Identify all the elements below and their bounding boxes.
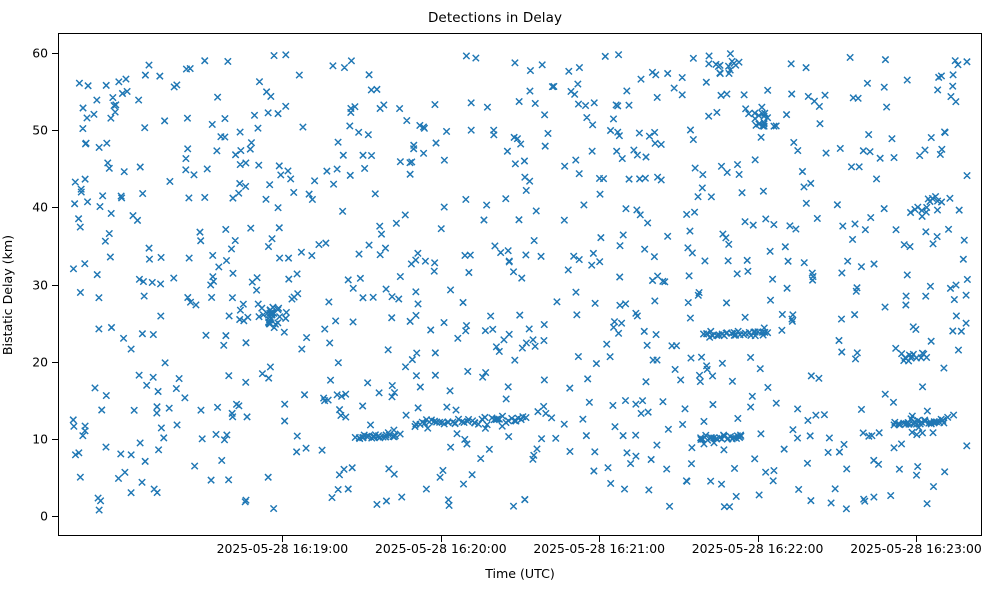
x-tick-label: 2025-05-28 16:20:00: [375, 541, 507, 556]
scatter-points-layer: [59, 34, 981, 535]
y-tick-label: 0: [40, 508, 48, 523]
y-tick-label: 10: [32, 431, 48, 446]
y-tick-label: 50: [32, 123, 48, 138]
scatter-marker-group: [70, 50, 971, 513]
x-axis-label: Time (UTC): [58, 566, 982, 581]
x-tick-label: 2025-05-28 16:19:00: [217, 541, 349, 556]
x-tick-label: 2025-05-28 16:21:00: [533, 541, 665, 556]
chart-title: Detections in Delay: [0, 10, 990, 26]
y-tick-label: 30: [32, 277, 48, 292]
plot-area: [58, 33, 982, 536]
y-axis-tick-labels: 0102030405060: [0, 0, 48, 590]
x-tick-label: 2025-05-28 16:23:00: [850, 541, 982, 556]
figure-canvas: Detections in Delay Bistatic Delay (km) …: [0, 0, 990, 590]
x-tick-label: 2025-05-28 16:22:00: [692, 541, 824, 556]
y-tick-label: 60: [32, 46, 48, 61]
scatter-markers: [70, 50, 971, 513]
y-tick-label: 40: [32, 200, 48, 215]
y-tick-label: 20: [32, 354, 48, 369]
